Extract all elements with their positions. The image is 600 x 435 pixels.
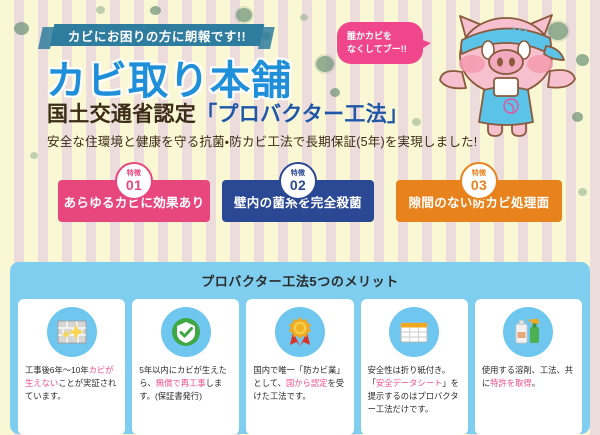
merit-card[interactable]: 5年以内にカビが生えたら、無償で再工事します。(保証書発行) <box>132 299 239 435</box>
merit-card-list: 工事後6年〜10年カビが生えないことが実証されています。 5年以内にカビが生えた… <box>18 299 582 435</box>
spray-bottle-icon <box>503 307 553 357</box>
landing-page: カビにお困りの方に朗報です!! カビ取り本舗 国土交通省認定「プロバクター工法」… <box>0 0 600 435</box>
mold-spot-icon <box>578 188 587 196</box>
feature-badge-2-label: 特徴 <box>291 170 306 177</box>
data-sheet-icon <box>389 307 439 357</box>
merit-card-text: 5年以内にカビが生えたら、無償で再工事します。(保証書発行) <box>139 364 232 403</box>
merit-text-part: 。 <box>532 378 540 388</box>
feature-badge-1-label: 特徴 <box>127 170 142 177</box>
mold-spot-icon <box>412 118 421 126</box>
tagline: 安全な住環境と健康を守る抗菌・防カビ工法で長期保証(5年)を実現しました! <box>47 131 477 150</box>
pig-mascot <box>432 4 584 156</box>
merit-text-highlight: 無償で再工事 <box>156 378 206 388</box>
mold-spot-icon <box>330 88 340 97</box>
merits-panel: プロバクター工法5つのメリット <box>10 262 590 434</box>
mold-spot-icon <box>96 6 105 14</box>
brick-wall-sparkle-icon <box>47 307 97 357</box>
merit-card-text: 使用する溶剤、工法、共に特許を取得。 <box>482 364 575 390</box>
merit-text-part: 工事後6年〜10年 <box>25 365 89 375</box>
ribbon-text: カビにお困りの方に朗報です!! <box>68 26 246 45</box>
mascot-speech-bubble: 誰かカビを なくしてブー!! <box>337 22 423 64</box>
award-medal-icon <box>275 307 325 357</box>
merit-card[interactable]: 使用する溶剤、工法、共に特許を取得。 <box>475 299 582 435</box>
feature-badge-3-label: 特徴 <box>472 170 487 177</box>
sub-title: 国土交通省認定「プロバクター工法」 <box>47 98 408 128</box>
merit-card[interactable]: 国内で唯一「防カビ業」として、国から認定を受けた工法です。 <box>246 299 353 435</box>
merit-text-highlight: 安全データシート <box>376 378 442 388</box>
feature-badge-2-number: 02 <box>290 178 306 192</box>
feature-badge-3-circle: 特徴 03 <box>460 162 498 200</box>
mold-spot-icon <box>236 8 252 22</box>
merit-card-text: 国内で唯一「防カビ業」として、国から認定を受けた工法です。 <box>253 364 346 403</box>
merit-text-highlight: 特許を取得 <box>490 378 532 388</box>
merit-card-text: 安全性は折り紙付き。「安全データシート」を提示するのはプロバクター工法だけです。 <box>368 364 461 415</box>
feature-badge-3[interactable]: 特徴 03 隙間のない防カビ処理面 <box>396 180 562 222</box>
merits-heading: プロバクター工法5つのメリット <box>18 271 582 290</box>
feature-badge-1-number: 01 <box>126 178 142 192</box>
merit-card[interactable]: 工事後6年〜10年カビが生えないことが実証されています。 <box>18 299 125 435</box>
mold-spot-icon <box>300 14 308 21</box>
feature-badge-1-circle: 特徴 01 <box>115 162 153 200</box>
sub-title-prefix: 国土交通省認定 <box>47 103 196 126</box>
feature-badge-1[interactable]: 特徴 01 あらゆるカビに効果あり <box>58 180 210 222</box>
feature-badge-2-circle: 特徴 02 <box>279 162 317 200</box>
speech-line-2: なくしてブー!! <box>347 43 417 56</box>
mold-spot-icon <box>316 56 334 72</box>
sub-title-highlight: 「プロバクター工法」 <box>196 103 408 126</box>
mold-spot-icon <box>150 6 161 15</box>
merit-card-text: 工事後6年〜10年カビが生えないことが実証されています。 <box>25 364 118 403</box>
speech-line-1: 誰かカビを <box>347 30 417 43</box>
mold-spot-icon <box>14 22 29 35</box>
mold-spot-icon <box>30 152 38 159</box>
merit-text-highlight: 国から認定 <box>286 378 328 388</box>
feature-badge-3-number: 03 <box>471 178 487 192</box>
feature-badge-2[interactable]: 特徴 02 壁内の菌糸を完全殺菌 <box>222 180 374 222</box>
merit-card[interactable]: 安全性は折り紙付き。「安全データシート」を提示するのはプロバクター工法だけです。 <box>361 299 468 435</box>
announcement-ribbon: カビにお困りの方に朗報です!! <box>50 24 265 46</box>
shield-check-icon <box>161 307 211 357</box>
